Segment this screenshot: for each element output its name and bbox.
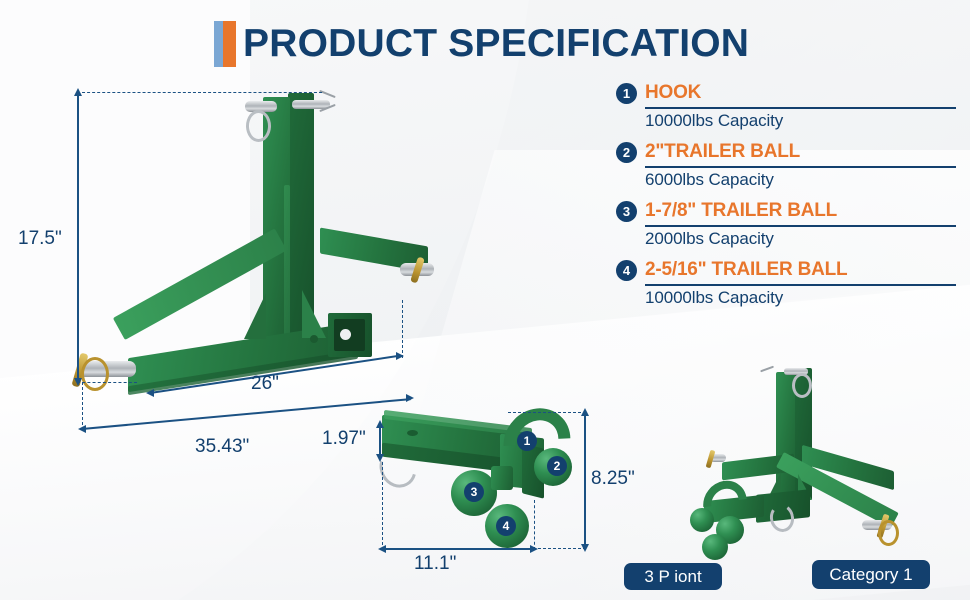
spec-number-badge: 3 — [616, 201, 637, 222]
dim-height-line — [77, 92, 79, 382]
dim-197-label: 1.97" — [322, 428, 366, 450]
dim-111-ext-right — [534, 500, 535, 550]
hitch-receiver-hole — [340, 329, 351, 340]
tag-category: Category 1 — [812, 560, 930, 589]
assy-right-pin-ring — [878, 520, 899, 546]
hitch-gusset-right — [302, 290, 326, 338]
dim-height-label: 17.5" — [18, 228, 62, 250]
callout-1: 1 — [517, 431, 537, 451]
tri-ball-mount-image: 1 2 3 4 — [372, 408, 602, 558]
dim-26-label: 26" — [251, 373, 279, 395]
mount-ball-stem — [491, 466, 513, 490]
specification-list: 1 HOOK 10000lbs Capacity 2 2"TRAILER BAL… — [616, 80, 956, 316]
callout-2: 2 — [547, 456, 567, 476]
assy-ball-c — [702, 534, 728, 560]
spec-number-badge: 4 — [616, 260, 637, 281]
spec-item-2-5-16in-trailer-ball: 4 2-5/16" TRAILER BALL 10000lbs Capacity — [616, 257, 956, 308]
dim-26-ext-right — [402, 300, 403, 358]
assembled-hitch-image — [672, 362, 962, 562]
assy-pin-clip — [760, 366, 774, 372]
dim-825-line — [584, 412, 586, 548]
title-accent-bar-orange — [223, 21, 236, 67]
assy-ball-a — [690, 508, 714, 532]
spec-item-hook: 1 HOOK 10000lbs Capacity — [616, 80, 956, 131]
dim-825-label: 8.25" — [591, 468, 635, 490]
three-point-hitch-image — [70, 85, 420, 415]
spec-divider — [645, 107, 956, 109]
product-spec-infographic: PRODUCT SPECIFICATION 1 HOOK 10000lbs Ca… — [0, 0, 970, 600]
spec-title: HOOK — [645, 82, 701, 104]
spec-divider — [645, 225, 956, 227]
dim-height-ext-bottom — [77, 382, 137, 383]
assy-pin-ring — [792, 373, 812, 398]
dim-197-arrow-bottom — [376, 454, 384, 462]
dim-3543-arrow-right — [406, 394, 414, 402]
hitch-left-pin-ring — [81, 357, 109, 391]
page-header: PRODUCT SPECIFICATION — [214, 18, 749, 70]
dim-3543-label: 35.43" — [195, 436, 249, 458]
spec-capacity: 10000lbs Capacity — [645, 111, 956, 131]
dim-3543-ext-left — [82, 382, 83, 430]
dim-825-ext-top — [508, 412, 586, 413]
title-accent-bar-blue — [214, 21, 223, 67]
hitch-mast-highlight — [284, 185, 290, 345]
spec-number-badge: 1 — [616, 83, 637, 104]
spec-title: 1-7/8" TRAILER BALL — [645, 200, 837, 222]
spec-capacity: 6000lbs Capacity — [645, 170, 956, 190]
spec-item-2in-trailer-ball: 2 2"TRAILER BALL 6000lbs Capacity — [616, 139, 956, 190]
dim-26-arrow-left — [146, 389, 154, 397]
page-title: PRODUCT SPECIFICATION — [243, 21, 749, 67]
dim-197-arrow-top — [376, 420, 384, 428]
spec-number-badge: 2 — [616, 142, 637, 163]
hitch-side-hole — [310, 335, 318, 343]
spec-title: 2"TRAILER BALL — [645, 141, 800, 163]
tag-three-point: 3 P iont — [624, 563, 722, 590]
spec-capacity: 2000lbs Capacity — [645, 229, 956, 249]
spec-title: 2-5/16" TRAILER BALL — [645, 259, 847, 281]
dim-height-ext-top — [77, 92, 322, 93]
dim-111-ext-left — [382, 462, 383, 550]
dim-111-line — [382, 548, 534, 550]
callout-3: 3 — [464, 482, 484, 502]
spec-divider — [645, 166, 956, 168]
spec-item-1-7-8in-trailer-ball: 3 1-7/8" TRAILER BALL 2000lbs Capacity — [616, 198, 956, 249]
callout-4: 4 — [496, 516, 516, 536]
dim-197-line — [379, 424, 381, 458]
hitch-pin-ring-left — [246, 110, 271, 142]
mount-shank-hole — [407, 430, 418, 436]
dim-111-label: 11.1" — [414, 553, 456, 575]
spec-capacity: 10000lbs Capacity — [645, 288, 956, 308]
spec-divider — [645, 284, 956, 286]
hitch-gusset-left — [244, 293, 266, 339]
